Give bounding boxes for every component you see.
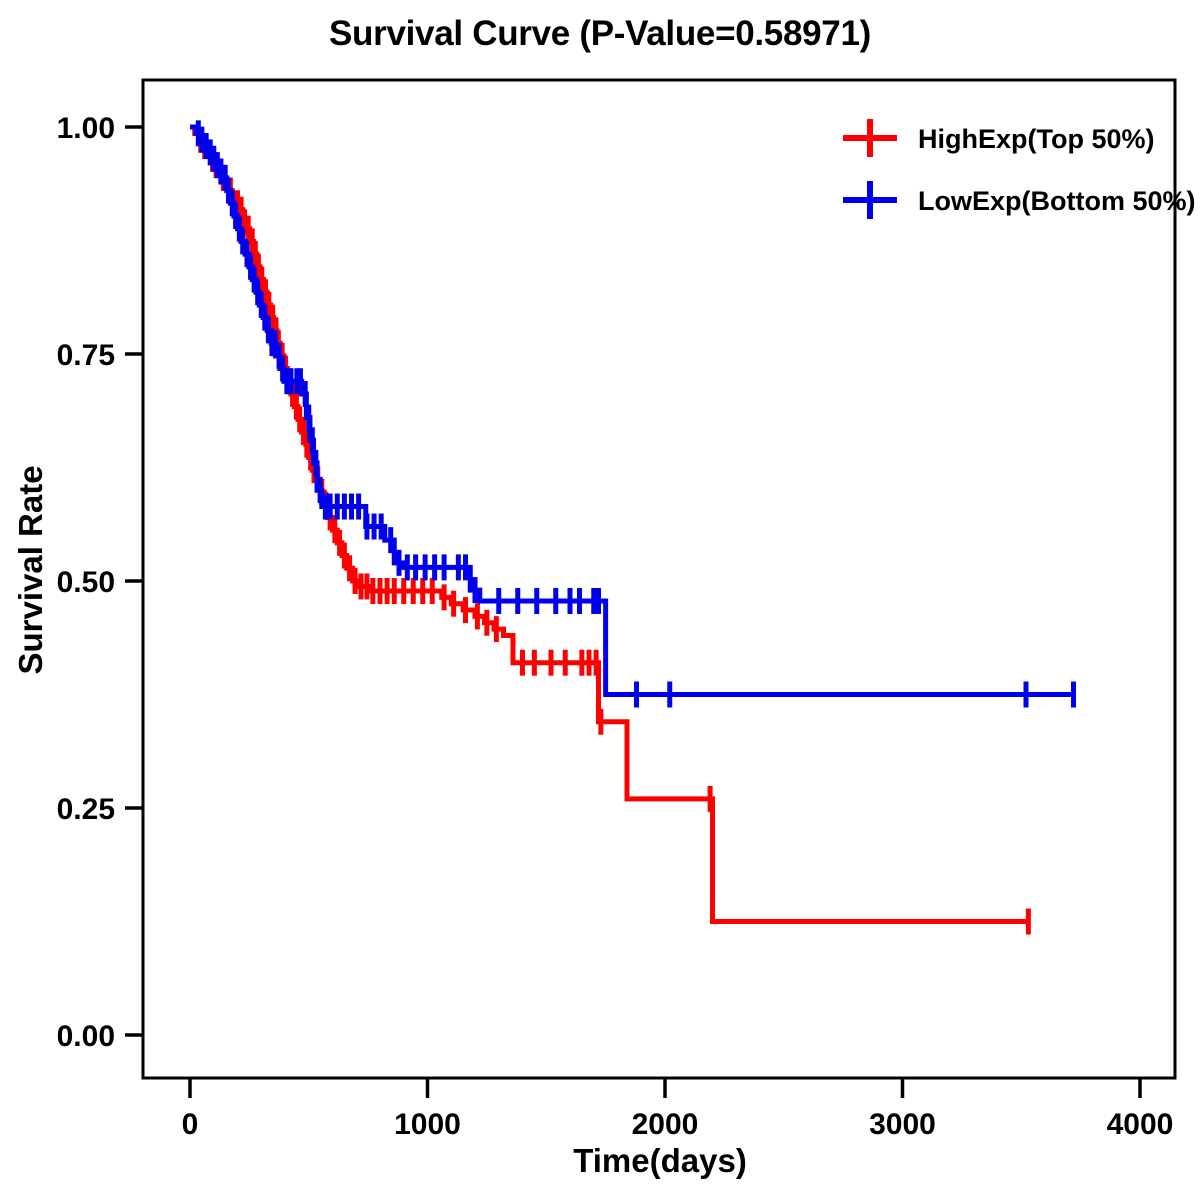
x-tick-label-3000: 3000 [869,1108,936,1141]
plot-border [143,80,1175,1078]
y-axis-title: Survival Rate [12,465,49,674]
x-axis-ticks: 01000200030004000 [182,1078,1174,1141]
legend-label-high-exp: HighExp(Top 50%) [918,124,1155,154]
y-tick-label-0.25: 0.25 [57,793,115,826]
y-tick-label-0.75: 0.75 [57,339,115,372]
y-tick-label-1.00: 1.00 [57,112,115,145]
plot-frame [143,80,1175,1078]
y-tick-label-0.00: 0.00 [57,1020,115,1053]
x-tick-label-1000: 1000 [394,1108,461,1141]
x-axis-title: Time(days) [573,1142,747,1179]
legend-label-low-exp: LowExp(Bottom 50%) [918,186,1196,216]
x-tick-label-0: 0 [182,1108,199,1141]
y-axis-ticks: 0.000.250.500.751.00 [57,112,143,1053]
x-tick-label-4000: 4000 [1107,1108,1174,1141]
survival-plot: 0.000.250.500.751.00 01000200030004000 H… [0,0,1200,1200]
survival-curve-figure: Survival Curve (P-Value=0.58971) 0.000.2… [0,0,1200,1200]
x-tick-label-2000: 2000 [632,1108,699,1141]
y-tick-label-0.50: 0.50 [57,566,115,599]
